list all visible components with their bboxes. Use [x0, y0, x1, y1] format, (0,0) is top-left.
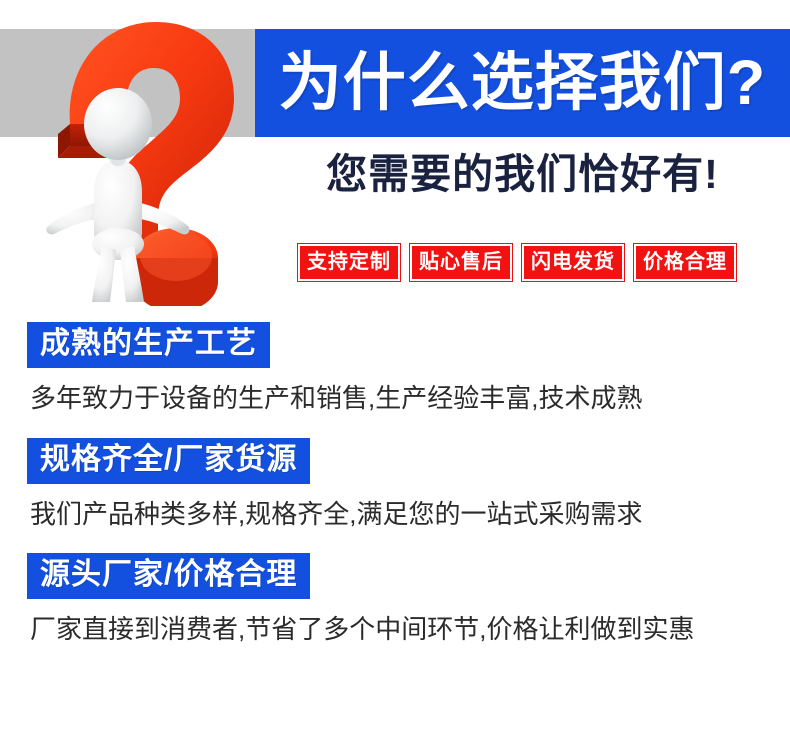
feature-item-source-factory: 源头厂家/价格合理 厂家直接到消费者,节省了多个中间环节,价格让利做到实惠 [0, 553, 790, 646]
badge-label: 支持定制 [300, 246, 398, 279]
badge-support-custom: 支持定制 [297, 243, 401, 282]
feature-heading-label: 源头厂家/价格合理 [40, 558, 297, 591]
hero-artwork [0, 0, 255, 310]
badge-label: 闪电发货 [524, 246, 622, 279]
feature-body-text: 我们产品种类多样,规格齐全,满足您的一站式采购需求 [30, 498, 790, 531]
feature-heading-label: 规格齐全/厂家货源 [40, 443, 297, 476]
feature-item-production-craft: 成熟的生产工艺 多年致力于设备的生产和销售,生产经验丰富,技术成熟 [0, 322, 790, 415]
feature-body-text: 多年致力于设备的生产和销售,生产经验丰富,技术成熟 [30, 382, 790, 415]
feature-item-full-specs: 规格齐全/厂家货源 我们产品种类多样,规格齐全,满足您的一站式采购需求 [0, 438, 790, 531]
feature-heading-block: 源头厂家/价格合理 [27, 553, 310, 599]
hero-headline-banner: 为什么选择我们? [255, 29, 790, 137]
badge-label: 价格合理 [636, 246, 734, 279]
feature-heading-label: 成熟的生产工艺 [40, 327, 257, 360]
badge-after-sales: 贴心售后 [409, 243, 513, 282]
feature-heading-block: 成熟的生产工艺 [27, 322, 270, 368]
feature-body-text: 厂家直接到消费者,节省了多个中间环节,价格让利做到实惠 [30, 613, 790, 646]
hero-headline: 为什么选择我们? [279, 52, 766, 115]
hero-badge-row: 支持定制 贴心售后 闪电发货 价格合理 [297, 243, 767, 282]
feature-list: 成熟的生产工艺 多年致力于设备的生产和销售,生产经验丰富,技术成熟 规格齐全/厂… [0, 322, 790, 669]
feature-heading-block: 规格齐全/厂家货源 [27, 438, 310, 484]
question-mark-mannequin-icon [8, 6, 248, 306]
hero-subtitle: 您需要的我们恰好有! [255, 152, 790, 197]
badge-fair-price: 价格合理 [633, 243, 737, 282]
hero-section: 为什么选择我们? 您需要的我们恰好有! 支持定制 贴心售后 闪电发货 价格合理 [0, 0, 790, 310]
badge-fast-shipping: 闪电发货 [521, 243, 625, 282]
promo-banner-page: 为什么选择我们? 您需要的我们恰好有! 支持定制 贴心售后 闪电发货 价格合理 … [0, 0, 790, 729]
badge-label: 贴心售后 [412, 246, 510, 279]
